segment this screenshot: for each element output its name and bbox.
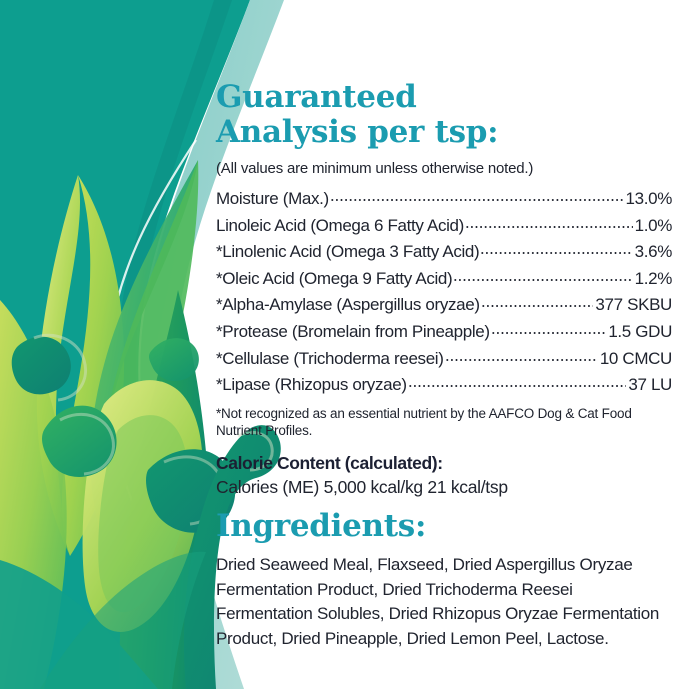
analysis-row-label: *Cellulase (Trichoderma reesei): [216, 349, 444, 369]
leader-dots: [453, 267, 632, 284]
analysis-row-value: 10 CMCU: [600, 349, 672, 369]
guaranteed-analysis-note: (All values are minimum unless otherwise…: [216, 160, 533, 177]
analysis-row: *Alpha-Amylase (Aspergillus oryzae) 377 …: [216, 293, 672, 320]
analysis-row-value: 37 LU: [628, 375, 672, 395]
analysis-row-label: *Protease (Bromelain from Pineapple): [216, 322, 490, 342]
ga-heading-line-1: Guaranteed: [216, 80, 546, 115]
leader-dots: [465, 214, 633, 231]
analysis-row: *Linolenic Acid (Omega 3 Fatty Acid) 3.6…: [216, 240, 672, 267]
analysis-row-label: Linoleic Acid (Omega 6 Fatty Acid): [216, 216, 464, 236]
leader-dots: [481, 293, 594, 310]
analysis-row-value: 3.6%: [635, 242, 672, 262]
label-text-content: Guaranteed Analysis per tsp: (All values…: [216, 0, 672, 689]
analysis-row: *Lipase (Rhizopus oryzae) 37 LU: [216, 373, 672, 400]
analysis-row-label: Moisture (Max.): [216, 189, 329, 209]
analysis-row-label: *Oleic Acid (Omega 9 Fatty Acid): [216, 269, 452, 289]
ga-heading-line-2: Analysis per tsp:: [216, 115, 546, 150]
calorie-content-value: Calories (ME) 5,000 kcal/kg 21 kcal/tsp: [216, 475, 668, 499]
analysis-row-label: *Linolenic Acid (Omega 3 Fatty Acid): [216, 242, 479, 262]
product-label-panel: Guaranteed Analysis per tsp: (All values…: [0, 0, 679, 689]
analysis-row-value: 1.0%: [635, 216, 672, 236]
analysis-row-value: 1.5 GDU: [608, 322, 672, 342]
leader-dots: [445, 347, 598, 364]
analysis-row-value: 377 SKBU: [595, 295, 672, 315]
calorie-content-section: Calorie Content (calculated): Calories (…: [216, 452, 668, 499]
leader-dots: [480, 240, 632, 257]
analysis-row: Linoleic Acid (Omega 6 Fatty Acid) 1.0%: [216, 214, 672, 241]
guaranteed-analysis-heading: Guaranteed Analysis per tsp:: [216, 80, 546, 150]
ingredients-list: Dried Seaweed Meal, Flaxseed, Dried Aspe…: [216, 553, 666, 651]
calorie-content-title: Calorie Content (calculated):: [216, 452, 668, 475]
analysis-row: Moisture (Max.) 13.0%: [216, 187, 672, 214]
analysis-row-value: 1.2%: [635, 269, 672, 289]
aafco-footnote: *Not recognized as an essential nutrient…: [216, 405, 668, 439]
analysis-row-label: *Lipase (Rhizopus oryzae): [216, 375, 407, 395]
analysis-row: *Oleic Acid (Omega 9 Fatty Acid) 1.2%: [216, 267, 672, 294]
ingredients-heading: Ingredients:: [216, 508, 426, 544]
analysis-row-label: *Alpha-Amylase (Aspergillus oryzae): [216, 295, 480, 315]
analysis-row-value: 13.0%: [626, 189, 672, 209]
guaranteed-analysis-table: Moisture (Max.) 13.0% Linoleic Acid (Ome…: [216, 187, 672, 400]
leader-dots: [330, 187, 624, 204]
analysis-row: *Cellulase (Trichoderma reesei) 10 CMCU: [216, 347, 672, 374]
leader-dots: [491, 320, 607, 337]
leader-dots: [408, 373, 627, 390]
analysis-row: *Protease (Bromelain from Pineapple) 1.5…: [216, 320, 672, 347]
